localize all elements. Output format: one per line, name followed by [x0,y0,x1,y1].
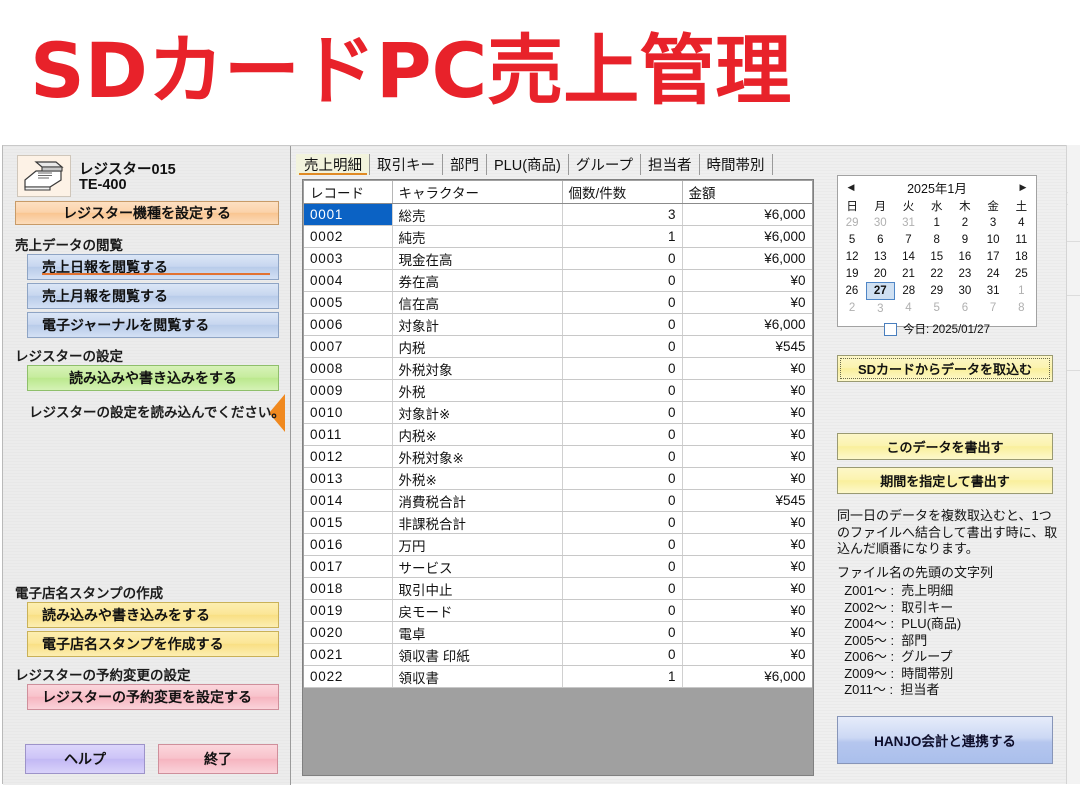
cell-character: 外税対象 [392,358,562,380]
table-row[interactable]: 0003現金在高0¥6,000 [304,248,812,270]
calendar-day[interactable]: 30 [866,214,894,231]
cell-count: 0 [562,424,682,446]
table-row[interactable]: 0004券在高0¥0 [304,270,812,292]
calendar-week-row: 567891011 [838,231,1036,248]
cell-count: 0 [562,578,682,600]
cell-count: 0 [562,402,682,424]
cell-character: サービス [392,556,562,578]
cell-character: 対象計※ [392,402,562,424]
column-header-character[interactable]: キャラクター [392,181,562,204]
calendar-day-selected[interactable]: 27 [866,283,894,300]
cell-count: 0 [562,358,682,380]
table-row[interactable]: 0019戻モード0¥0 [304,600,812,622]
table-row[interactable]: 0008外税対象0¥0 [304,358,812,380]
date-picker-calendar[interactable]: ◀ 2025年1月 ▶ 日月火水木金土 29303112345678910111… [837,175,1037,327]
import-note-text: 同一日のデータを複数取込むと、1つ のファイルへ結合して書出す時に、取 込んだ順… [837,508,1057,558]
cell-record: 0003 [304,248,392,270]
cell-count: 0 [562,292,682,314]
cell-amount: ¥0 [682,534,812,556]
cell-record: 0007 [304,336,392,358]
table-row[interactable]: 0001総売3¥6,000 [304,204,812,226]
cell-character: 外税 [392,380,562,402]
calendar-day[interactable]: 23 [951,265,979,283]
register-name: レジスター015 [79,158,176,179]
cell-record: 0012 [304,446,392,468]
calendar-day[interactable]: 17 [979,248,1007,265]
calendar-day[interactable]: 2 [951,214,979,231]
calendar-day[interactable]: 4 [894,300,922,318]
sales-detail-grid-frame: レコード キャラクター 個数/件数 金額 0001総売3¥6,0000002純売… [302,179,814,776]
cell-count: 1 [562,666,682,688]
section-label-reservation: レジスターの予約変更の設定 [15,664,191,684]
calendar-day[interactable]: 6 [866,231,894,248]
left-sidebar: レジスター015 TE-400 レジスター機種を設定する 売上データの閲覧 売上… [3,146,291,785]
table-row[interactable]: 0018取引中止0¥0 [304,578,812,600]
calendar-day[interactable]: 1 [923,214,951,231]
cell-amount: ¥6,000 [682,314,812,336]
cell-character: 券在高 [392,270,562,292]
page-title: SDカードPC売上管理 [30,12,791,130]
cell-count: 0 [562,512,682,534]
table-row[interactable]: 0016万円0¥0 [304,534,812,556]
cell-record: 0018 [304,578,392,600]
today-checkbox[interactable] [884,323,897,336]
cell-record: 0015 [304,512,392,534]
cell-amount: ¥0 [682,622,812,644]
calendar-day[interactable]: 10 [979,231,1007,248]
table-header-row: レコード キャラクター 個数/件数 金額 [304,181,812,204]
cell-character: 取引中止 [392,578,562,600]
calendar-day[interactable]: 6 [951,300,979,318]
cell-record: 0020 [304,622,392,644]
cell-record: 0019 [304,600,392,622]
table-row[interactable]: 0015非課税合計0¥0 [304,512,812,534]
cell-amount: ¥6,000 [682,248,812,270]
cell-record: 0010 [304,402,392,424]
cell-amount: ¥545 [682,336,812,358]
table-row[interactable]: 0017サービス0¥0 [304,556,812,578]
cell-amount: ¥0 [682,292,812,314]
cell-count: 0 [562,468,682,490]
cell-character: 総売 [392,204,562,226]
cell-character: 電卓 [392,622,562,644]
cell-amount: ¥545 [682,490,812,512]
export-this-data-button[interactable]: このデータを書出す [837,433,1053,460]
cell-amount: ¥0 [682,270,812,292]
table-row[interactable]: 0007内税0¥545 [304,336,812,358]
calendar-day[interactable]: 16 [951,248,979,265]
tab-5[interactable]: グループ [569,154,641,175]
column-header-amount[interactable]: 金額 [682,181,812,204]
cell-character: 内税 [392,336,562,358]
tab-1[interactable]: 売上明細 [296,154,370,175]
chevron-right-icon[interactable]: ▶ [1017,181,1029,193]
calendar-day[interactable]: 24 [979,265,1007,283]
calendar-header: ◀ 2025年1月 ▶ [838,176,1036,198]
calendar-day[interactable]: 15 [923,248,951,265]
cell-amount: ¥0 [682,556,812,578]
cell-character: 対象計 [392,314,562,336]
calendar-day[interactable]: 26 [838,283,866,300]
cell-amount: ¥6,000 [682,666,812,688]
cell-amount: ¥6,000 [682,204,812,226]
calendar-week-row: 2930311234 [838,214,1036,231]
calendar-day[interactable]: 13 [866,248,894,265]
browse-daily-report-button[interactable]: 売上日報を閲覧する [27,254,279,280]
browse-monthly-report-button[interactable]: 売上月報を閲覧する [27,283,279,309]
cell-amount: ¥0 [682,578,812,600]
calendar-week-row: 12131415161718 [838,248,1036,265]
tab-4[interactable]: PLU(商品) [487,154,569,175]
cell-count: 0 [562,248,682,270]
cell-count: 3 [562,204,682,226]
today-label: 今日: 2025/01/27 [903,321,990,337]
browse-electronic-journal-button[interactable]: 電子ジャーナルを閲覧する [27,312,279,338]
column-header-record[interactable]: レコード [304,181,392,204]
background-window-sliver: )( [1066,145,1080,784]
table-row[interactable]: 0005信在高0¥0 [304,292,812,314]
register-read-write-button[interactable]: 読み込みや書き込みをする [27,365,279,391]
cell-count: 0 [562,314,682,336]
table-row[interactable]: 0002純売1¥6,000 [304,226,812,248]
table-row[interactable]: 0009外税0¥0 [304,380,812,402]
calendar-day[interactable]: 7 [979,300,1007,318]
calendar-day[interactable]: 2 [838,300,866,318]
calendar-day[interactable]: 3 [979,214,1007,231]
set-register-model-button[interactable]: レジスター機種を設定する [15,201,279,225]
table-row[interactable]: 0010対象計※0¥0 [304,402,812,424]
tab-2[interactable]: 取引キー [370,154,443,175]
cell-record: 0005 [304,292,392,314]
cell-record: 0008 [304,358,392,380]
cell-amount: ¥0 [682,358,812,380]
table-row[interactable]: 0006対象計0¥6,000 [304,314,812,336]
table-row[interactable]: 0013外税※0¥0 [304,468,812,490]
cell-count: 0 [562,270,682,292]
cell-record: 0013 [304,468,392,490]
calendar-day[interactable]: 21 [894,265,922,283]
cell-character: 領収書 印紙 [392,644,562,666]
cell-character: 純売 [392,226,562,248]
application-window: レジスター015 TE-400 レジスター機種を設定する 売上データの閲覧 売上… [2,145,1066,784]
cell-character: 外税対象※ [392,446,562,468]
cell-character: 消費税合計 [392,490,562,512]
calendar-day[interactable]: 3 [866,300,894,318]
calendar-day[interactable]: 30 [951,283,979,300]
cell-amount: ¥0 [682,600,812,622]
column-header-count[interactable]: 個数/件数 [562,181,682,204]
cell-count: 0 [562,556,682,578]
cell-amount: ¥0 [682,512,812,534]
cell-record: 0009 [304,380,392,402]
cell-count: 0 [562,600,682,622]
calendar-weekday: 火 [894,198,922,214]
cell-character: 信在高 [392,292,562,314]
cell-character: 万円 [392,534,562,556]
section-label-stamp: 電子店名スタンプの作成 [15,582,163,602]
cell-character: 領収書 [392,666,562,688]
register-settings-hint: レジスターの設定を読み込んでください。 [29,401,285,421]
chevron-left-icon[interactable]: ◀ [845,181,857,193]
cash-register-icon [17,155,71,197]
center-panel: 売上明細取引キー部門PLU(商品)グループ担当者時間帯別 レコード キャラクター… [292,146,823,785]
calendar-day[interactable]: 29 [923,283,951,300]
calendar-weekday: 金 [979,198,1007,214]
cell-amount: ¥0 [682,380,812,402]
app-banner: SDカードPC売上管理 [0,0,1080,145]
calendar-day[interactable]: 1 [1007,283,1035,300]
cell-record: 0006 [304,314,392,336]
help-button[interactable]: ヘルプ [25,744,145,774]
cell-record: 0021 [304,644,392,666]
table-row[interactable]: 0011内税※0¥0 [304,424,812,446]
table-row[interactable]: 0012外税対象※0¥0 [304,446,812,468]
calendar-day[interactable]: 9 [951,231,979,248]
table-row[interactable]: 0020電卓0¥0 [304,622,812,644]
calendar-day[interactable]: 5 [923,300,951,318]
calendar-week-row: 2627282930311 [838,283,1036,300]
calendar-day[interactable]: 18 [1007,248,1035,265]
cell-record: 0004 [304,270,392,292]
calendar-weekday: 水 [923,198,951,214]
table-row[interactable]: 0014消費税合計0¥545 [304,490,812,512]
cell-character: 現金在高 [392,248,562,270]
cell-record: 0002 [304,226,392,248]
cell-record: 0014 [304,490,392,512]
import-from-sd-card-button[interactable]: SDカードからデータを取込む [837,355,1053,382]
cell-count: 0 [562,336,682,358]
cell-count: 0 [562,446,682,468]
cell-amount: ¥0 [682,644,812,666]
cell-character: 外税※ [392,468,562,490]
filename-prefix-list: Z001～ : 売上明細 Z002～ : 取引キー Z004～ : PLU(商品… [837,583,961,699]
sales-detail-table: レコード キャラクター 個数/件数 金額 0001総売3¥6,0000002純売… [304,181,812,688]
right-panel: ◀ 2025年1月 ▶ 日月火水木金土 29303112345678910111… [824,146,1067,785]
calendar-day[interactable]: 29 [838,214,866,231]
calendar-weekday: 木 [951,198,979,214]
cell-character: 非課税合計 [392,512,562,534]
calendar-week-row: 19202122232425 [838,265,1036,283]
calendar-weekday: 月 [866,198,894,214]
section-label-sales-browse: 売上データの閲覧 [15,234,123,254]
calendar-weekday: 土 [1007,198,1035,214]
cell-character: 内税※ [392,424,562,446]
tab-3[interactable]: 部門 [443,154,487,175]
calendar-month-label: 2025年1月 [907,178,967,197]
cell-count: 0 [562,534,682,556]
cell-record: 0001 [304,204,392,226]
calendar-day[interactable]: 7 [894,231,922,248]
export-by-period-button[interactable]: 期間を指定して書出す [837,467,1053,494]
calendar-day[interactable]: 25 [1007,265,1035,283]
hanjo-accounting-link-button[interactable]: HANJO会計と連携する [837,716,1053,764]
cell-record: 0016 [304,534,392,556]
calendar-today-row[interactable]: 今日: 2025/01/27 [838,319,1036,339]
calendar-day[interactable]: 8 [1007,300,1035,318]
cell-amount: ¥0 [682,468,812,490]
calendar-day[interactable]: 19 [838,265,866,283]
cell-amount: ¥0 [682,424,812,446]
cell-count: 0 [562,380,682,402]
cell-count: 0 [562,622,682,644]
calendar-day[interactable]: 31 [979,283,1007,300]
cell-amount: ¥0 [682,402,812,424]
cell-record: 0011 [304,424,392,446]
calendar-day[interactable]: 12 [838,248,866,265]
calendar-grid: 日月火水木金土 29303112345678910111213141516171… [838,198,1036,317]
calendar-day[interactable]: 8 [923,231,951,248]
cell-count: 1 [562,226,682,248]
calendar-week-row: 2345678 [838,300,1036,318]
calendar-weekday: 日 [838,198,866,214]
calendar-day[interactable]: 22 [923,265,951,283]
table-row[interactable]: 0022領収書1¥6,000 [304,666,812,688]
stamp-create-button[interactable]: 電子店名スタンプを作成する [27,631,279,657]
table-row[interactable]: 0021領収書 印紙0¥0 [304,644,812,666]
tab-strip: 売上明細取引キー部門PLU(商品)グループ担当者時間帯別 [296,153,773,175]
cell-amount: ¥6,000 [682,226,812,248]
register-model: TE-400 [79,177,127,193]
calendar-day[interactable]: 31 [894,214,922,231]
filename-prefix-title: ファイル名の先頭の文字列 [837,565,993,582]
calendar-weekday-row: 日月火水木金土 [838,198,1036,214]
tab-7[interactable]: 時間帯別 [700,154,773,175]
exit-button[interactable]: 終了 [158,744,278,774]
cell-count: 0 [562,490,682,512]
tab-6[interactable]: 担当者 [641,154,700,175]
calendar-day[interactable]: 4 [1007,214,1035,231]
calendar-day[interactable]: 5 [838,231,866,248]
calendar-day[interactable]: 11 [1007,231,1035,248]
calendar-day[interactable]: 14 [894,248,922,265]
cell-record: 0022 [304,666,392,688]
section-label-register-settings: レジスターの設定 [15,345,123,365]
reservation-change-button[interactable]: レジスターの予約変更を設定する [27,684,279,710]
calendar-day[interactable]: 20 [866,265,894,283]
cell-record: 0017 [304,556,392,578]
cell-character: 戻モード [392,600,562,622]
cell-amount: ¥0 [682,446,812,468]
stamp-read-write-button[interactable]: 読み込みや書き込みをする [27,602,279,628]
sales-detail-grid-scroll[interactable]: レコード キャラクター 個数/件数 金額 0001総売3¥6,0000002純売… [304,181,812,774]
calendar-day[interactable]: 28 [894,283,922,300]
cell-count: 0 [562,644,682,666]
